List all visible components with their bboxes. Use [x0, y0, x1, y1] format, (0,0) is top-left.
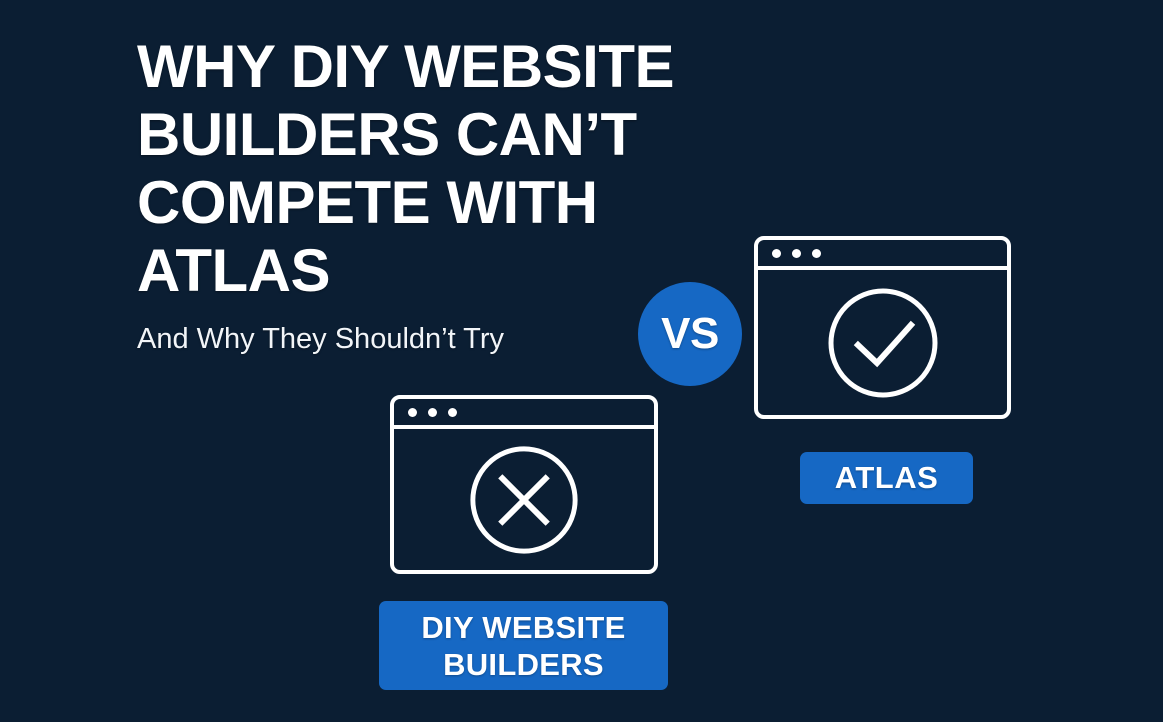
- label-diy-text-line-2: BUILDERS: [421, 646, 625, 683]
- window-dot-icon: [428, 408, 437, 417]
- headline-line-2: BUILDERS CAN’T: [137, 101, 637, 168]
- browser-titlebar-diy: [394, 399, 654, 429]
- window-dot-icon: [408, 408, 417, 417]
- page-title: WHY DIY WEBSITEBUILDERS CAN’TCOMPETE WIT…: [137, 33, 717, 305]
- headline-line-1: WHY DIY WEBSITE: [137, 33, 674, 100]
- browser-titlebar-atlas: [758, 240, 1007, 270]
- page-subtitle: And Why They Shouldn’t Try: [137, 321, 717, 357]
- label-atlas-text: ATLAS: [835, 460, 939, 496]
- browser-window-diy: [390, 395, 658, 574]
- label-atlas[interactable]: ATLAS: [800, 452, 973, 504]
- label-diy-text-line-1: DIY WEBSITE: [421, 609, 625, 646]
- window-dot-icon: [772, 249, 781, 258]
- headline-line-4: ATLAS: [137, 237, 330, 304]
- label-diy-website-builders[interactable]: DIY WEBSITE BUILDERS: [379, 601, 668, 690]
- vs-badge: VS: [638, 282, 742, 386]
- infographic-canvas: WHY DIY WEBSITEBUILDERS CAN’TCOMPETE WIT…: [0, 0, 1163, 722]
- browser-window-atlas: [754, 236, 1011, 419]
- headline-line-3: COMPETE WITH: [137, 169, 598, 236]
- vs-label: VS: [661, 312, 719, 356]
- headline-block: WHY DIY WEBSITEBUILDERS CAN’TCOMPETE WIT…: [137, 33, 717, 357]
- circle-check-icon: [823, 283, 943, 403]
- circle-x-icon: [465, 441, 583, 559]
- window-dot-icon: [812, 249, 821, 258]
- browser-body-atlas: [758, 270, 1007, 415]
- browser-body-diy: [394, 429, 654, 570]
- window-dot-icon: [792, 249, 801, 258]
- window-dot-icon: [448, 408, 457, 417]
